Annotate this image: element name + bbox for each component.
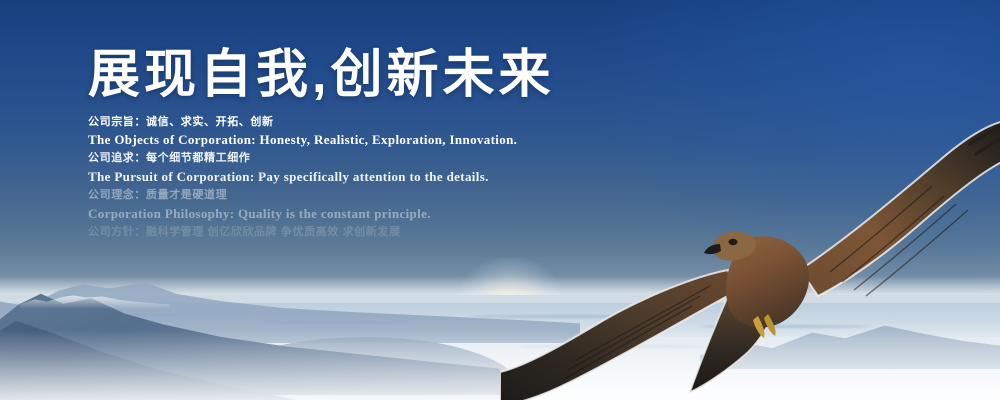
tagline-group: 公司方针：融科学管理 创亿欣欣品牌 争优质高效 求创新发展 xyxy=(88,225,554,241)
taglines: 公司宗旨：诚信、求实、开拓、创新 The Objects of Corporat… xyxy=(88,115,554,241)
eagle-wing-right xyxy=(800,120,1000,296)
corporate-banner: 展现自我,创新未来 公司宗旨：诚信、求实、开拓、创新 The Objects o… xyxy=(0,0,1000,400)
tagline-cn: 公司理念：质量才是硬道理 xyxy=(88,188,554,204)
tagline-group: 公司理念：质量才是硬道理 Corporation Philosophy: Qua… xyxy=(88,188,554,223)
tagline-group: 公司追求：每个细节都精工细作 The Pursuit of Corporatio… xyxy=(88,151,554,186)
tagline-cn: 公司追求：每个细节都精工细作 xyxy=(88,151,554,167)
tagline-en: The Objects of Corporation: Honesty, Rea… xyxy=(88,130,554,149)
tagline-en: Corporation Philosophy: Quality is the c… xyxy=(88,204,554,223)
text-block: 展现自我,创新未来 公司宗旨：诚信、求实、开拓、创新 The Objects o… xyxy=(88,48,554,243)
tagline-cn: 公司宗旨：诚信、求实、开拓、创新 xyxy=(88,115,554,131)
eagle-eye xyxy=(729,239,738,245)
eagle-illustration xyxy=(500,120,1000,400)
tagline-en: The Pursuit of Corporation: Pay specific… xyxy=(88,167,554,186)
page-title: 展现自我,创新未来 xyxy=(88,48,554,103)
tagline-group: 公司宗旨：诚信、求实、开拓、创新 The Objects of Corporat… xyxy=(88,115,554,150)
tagline-cn: 公司方针：融科学管理 创亿欣欣品牌 争优质高效 求创新发展 xyxy=(88,225,554,241)
